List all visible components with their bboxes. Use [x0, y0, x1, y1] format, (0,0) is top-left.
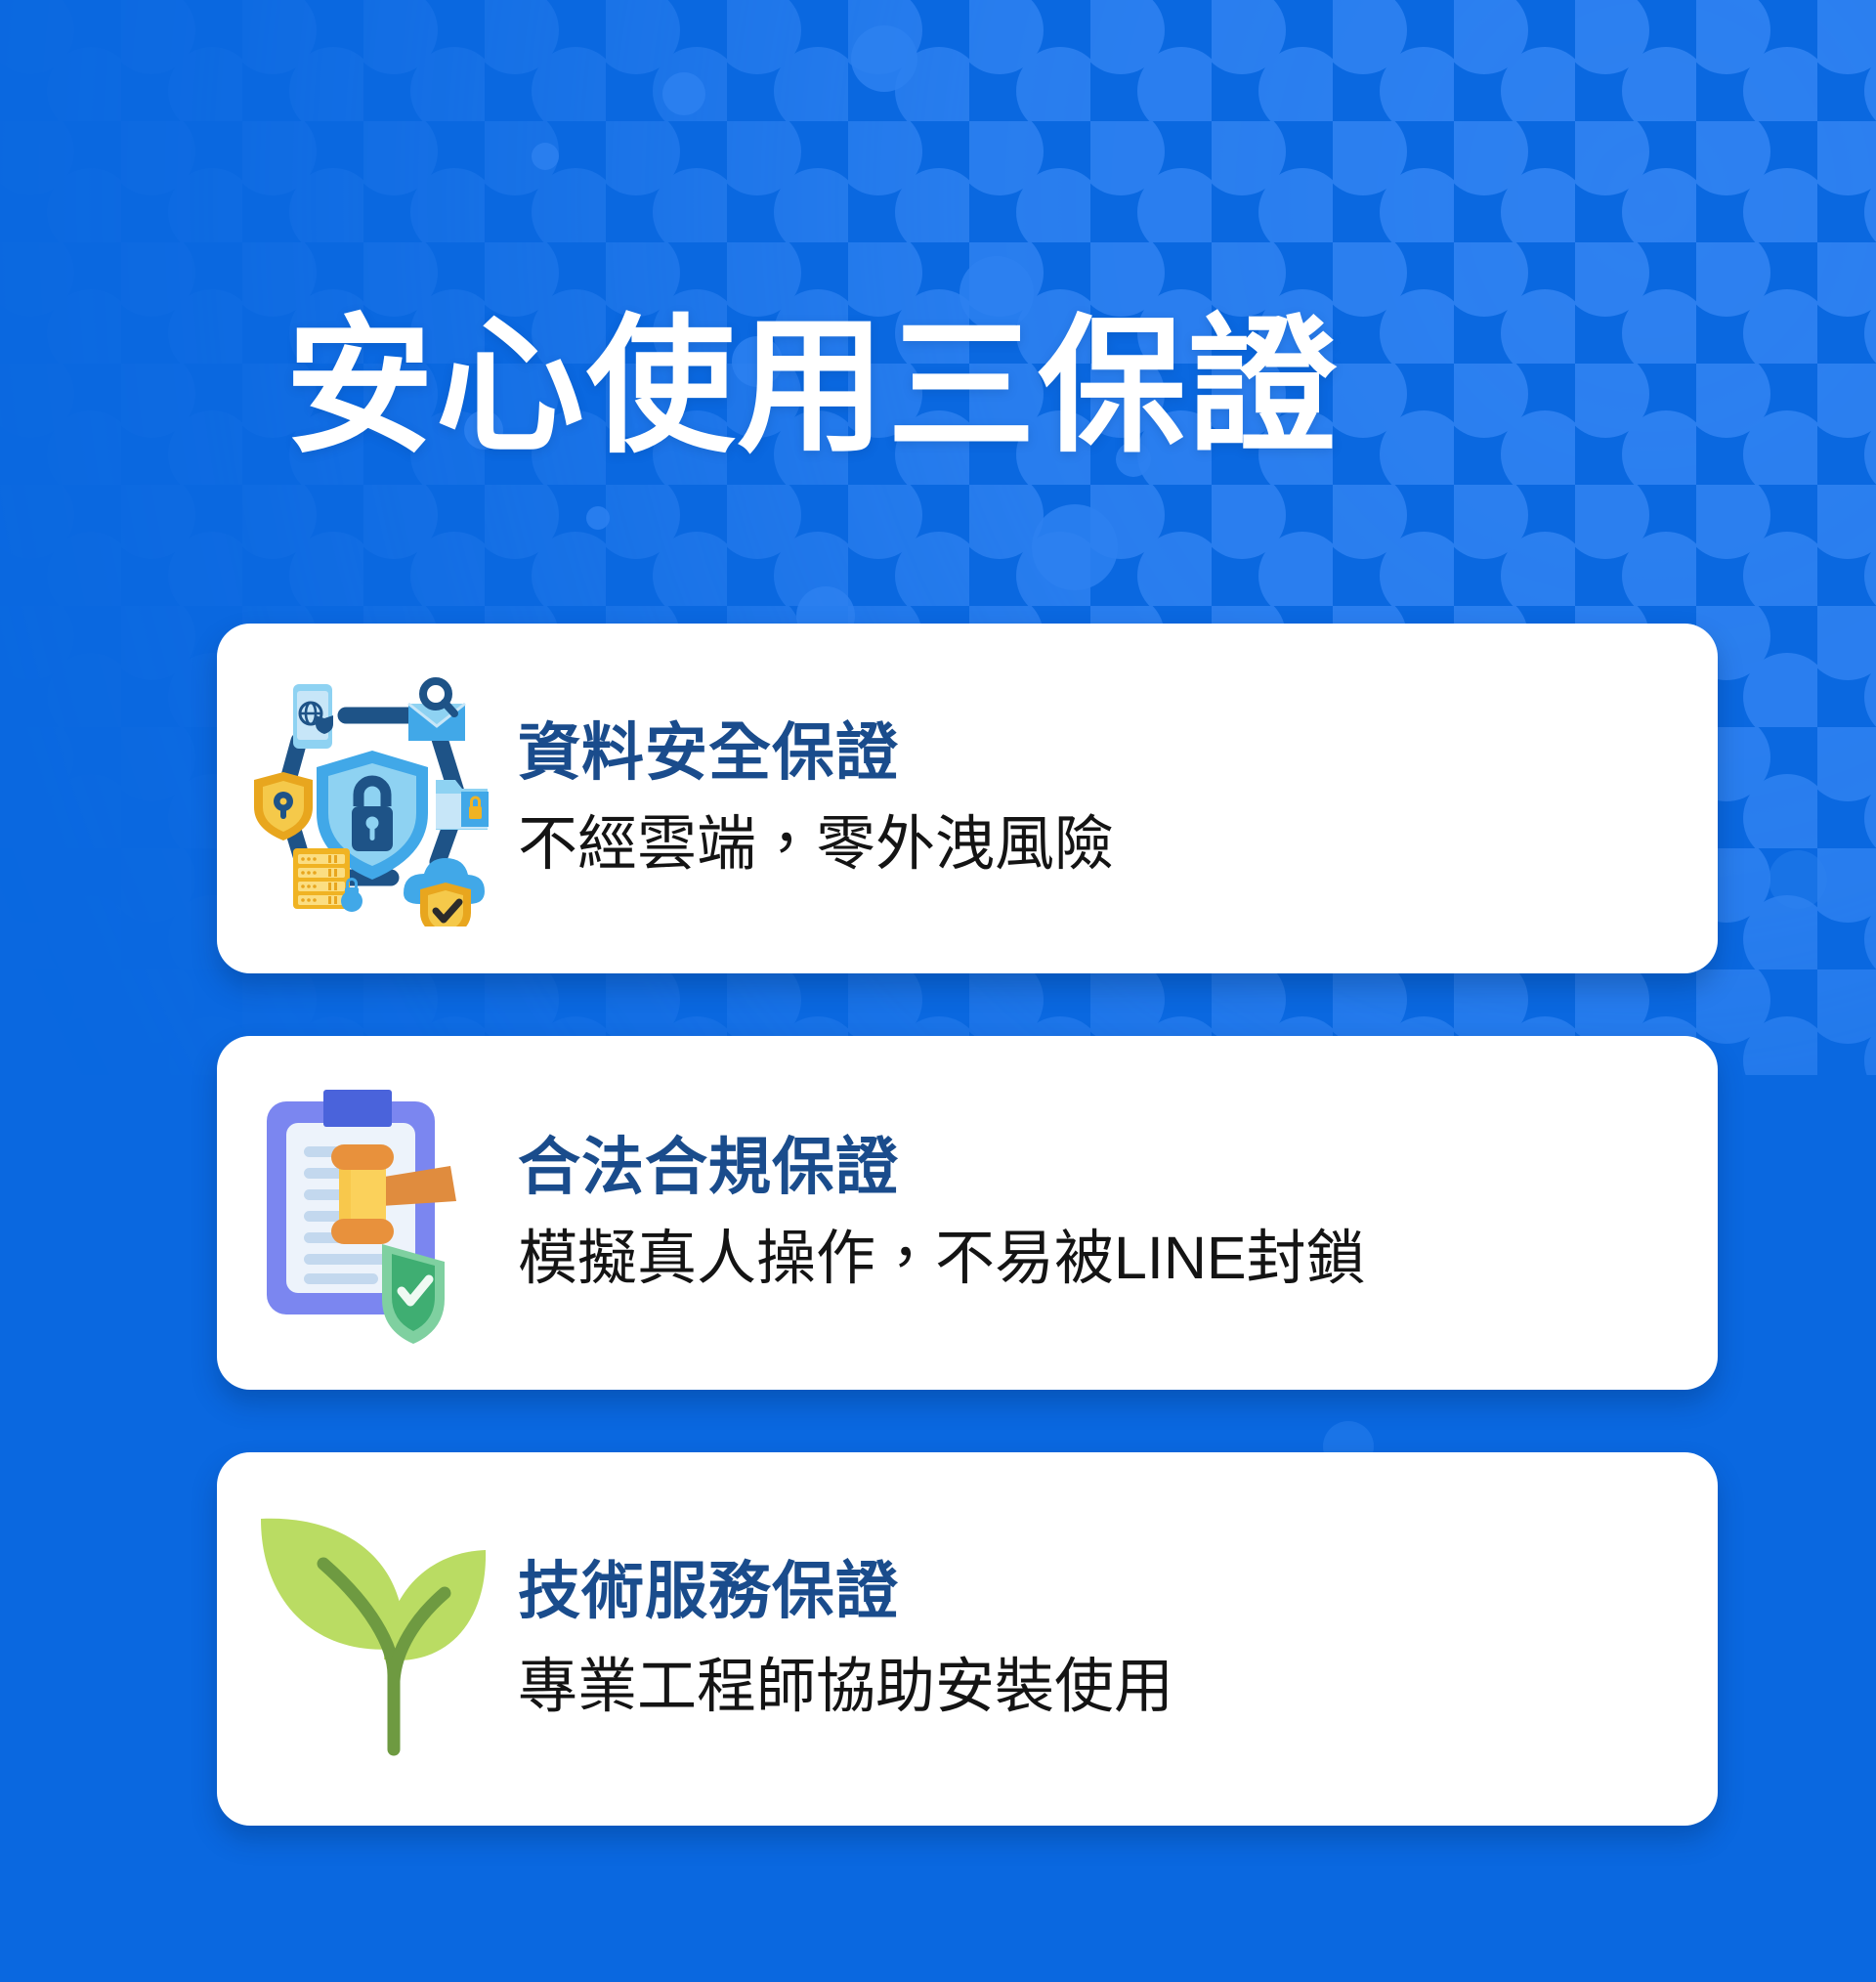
card-text-block: 技術服務保證 專業工程師協助安裝使用 — [510, 1557, 1718, 1720]
guarantee-card-legal-compliance[interactable]: 合法合規保證 模擬真人操作，不易被LINE封鎖 — [217, 1036, 1718, 1390]
card-title: 技術服務保證 — [518, 1557, 1688, 1627]
card-text-block: 資料安全保證 不經雲端，零外洩風險 — [510, 718, 1718, 878]
guarantee-card-technical-service[interactable]: 技術服務保證 專業工程師協助安裝使用 — [217, 1452, 1718, 1826]
card-subtitle: 模擬真人操作，不易被LINE封鎖 — [518, 1225, 1688, 1293]
promo-graphic: 安心使用三保證 — [0, 0, 1876, 1982]
technical-service-sprout-icon — [217, 1452, 510, 1826]
guarantee-card-list: 資料安全保證 不經雲端，零外洩風險 — [217, 624, 1718, 1826]
card-subtitle: 專業工程師協助安裝使用 — [518, 1653, 1688, 1721]
card-subtitle: 不經雲端，零外洩風險 — [518, 810, 1688, 879]
legal-compliance-clipboard-gavel-icon — [217, 1036, 510, 1390]
guarantee-card-data-security[interactable]: 資料安全保證 不經雲端，零外洩風險 — [217, 624, 1718, 973]
card-title: 資料安全保證 — [518, 718, 1688, 789]
page-title: 安心使用三保證 — [285, 313, 1339, 461]
data-security-network-icon — [217, 624, 510, 973]
card-title: 合法合規保證 — [518, 1133, 1688, 1203]
card-text-block: 合法合規保證 模擬真人操作，不易被LINE封鎖 — [510, 1133, 1718, 1292]
